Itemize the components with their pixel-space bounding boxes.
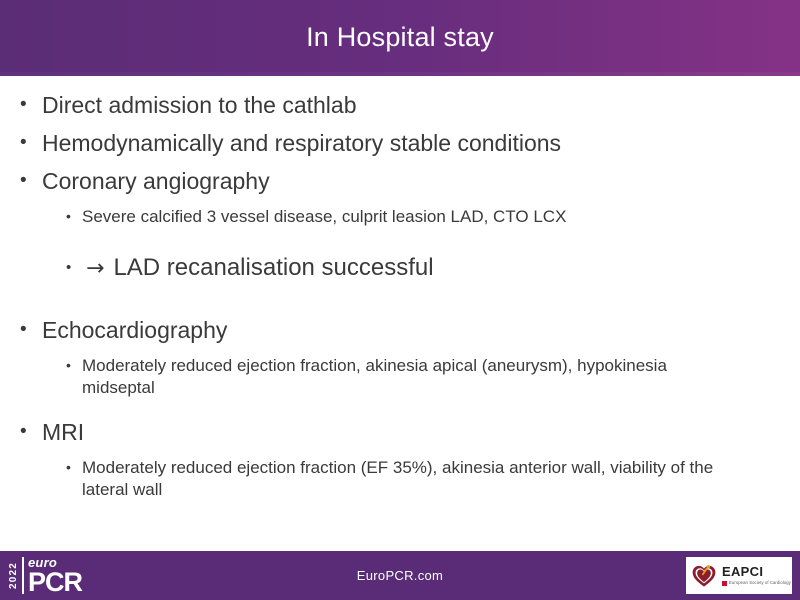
list-item-label: Coronary angiography [38, 168, 776, 195]
bullet-dot-icon: • [14, 168, 38, 193]
list-item: • Coronary angiography [14, 168, 776, 195]
bullet-dot-icon: • [66, 457, 82, 478]
list-item: • Echocardiography [14, 317, 776, 344]
section-spacer [14, 402, 776, 419]
sub-list-item-label: Moderately reduced ejection fraction, ak… [82, 355, 742, 399]
sub-list-item-highlight-label: →LAD recanalisation successful [86, 254, 776, 283]
list-item: • Hemodynamically and respiratory stable… [14, 130, 776, 157]
eapci-logo: EAPCI European Society of Cardiology [686, 557, 792, 594]
list-item-label: Hemodynamically and respiratory stable c… [38, 130, 776, 157]
sub-list-item: • Moderately reduced ejection fraction (… [14, 457, 776, 501]
bullet-dot-icon: • [14, 419, 38, 444]
sub-list-item: • Severe calcified 3 vessel disease, cul… [14, 206, 776, 228]
sub-list-item: • Moderately reduced ejection fraction, … [14, 355, 776, 399]
section-spacer [14, 283, 776, 317]
footer-website-label: EuroPCR.com [357, 568, 443, 583]
bullet-dot-icon: • [14, 130, 38, 155]
eapci-logo-subtitle-label: European Society of Cardiology [729, 581, 791, 585]
slide-footer: 2022 euro PCR EuroPCR.com EAPCI European… [0, 551, 800, 600]
footer-website: EuroPCR.com [0, 551, 800, 600]
bullet-dot-icon: • [14, 317, 38, 342]
highlight-text: LAD recanalisation successful [113, 254, 433, 281]
eapci-logo-subtitle: European Society of Cardiology [722, 581, 791, 586]
list-item-label: Echocardiography [38, 317, 776, 344]
bullet-dot-icon: • [14, 92, 38, 117]
list-item: • MRI [14, 419, 776, 446]
bullet-dot-icon: • [66, 355, 82, 376]
esc-square-icon [722, 581, 727, 586]
list-item-label: Direct admission to the cathlab [38, 92, 776, 119]
sub-list-item-label: Severe calcified 3 vessel disease, culpr… [82, 206, 742, 228]
slide-content: • Direct admission to the cathlab • Hemo… [0, 76, 800, 551]
sub-list-item-highlight: • →LAD recanalisation successful [14, 254, 776, 283]
bullet-dot-icon: • [66, 254, 86, 283]
bullet-dot-icon: • [66, 206, 82, 227]
list-item: • Direct admission to the cathlab [14, 92, 776, 119]
sub-list-item-label: Moderately reduced ejection fraction (EF… [82, 457, 742, 501]
slide-header: In Hospital stay [0, 0, 800, 76]
right-arrow-icon: → [86, 256, 113, 281]
heart-icon [691, 563, 717, 589]
eapci-logo-text: EAPCI European Society of Cardiology [717, 565, 791, 586]
eapci-logo-name: EAPCI [722, 565, 791, 578]
list-item-label: MRI [38, 419, 776, 446]
page-title: In Hospital stay [306, 24, 494, 53]
